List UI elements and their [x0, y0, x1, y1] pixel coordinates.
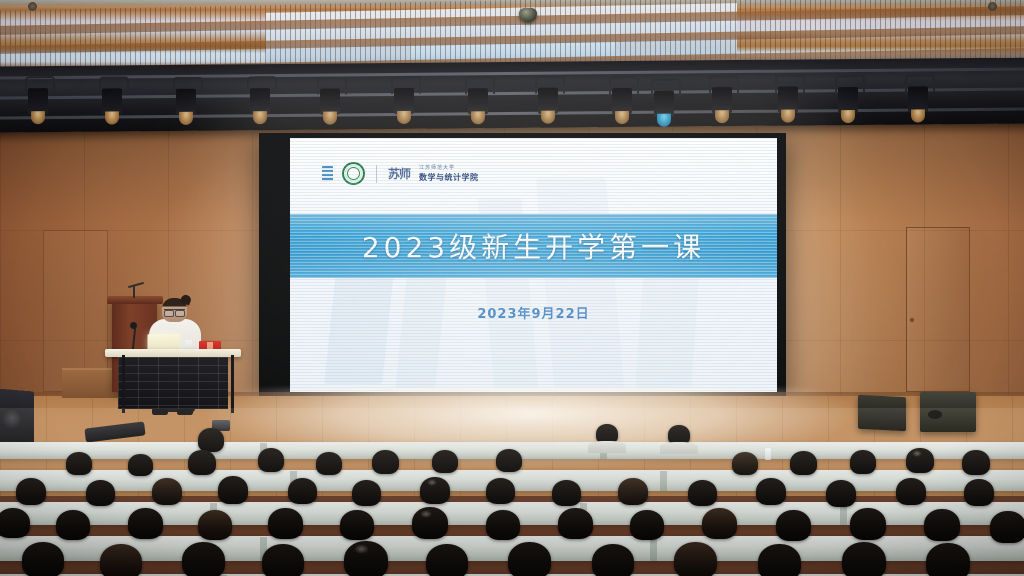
slide-date: 2023年9月22日	[290, 303, 777, 322]
audience-head	[850, 450, 876, 474]
audience-head	[100, 544, 142, 576]
glasses-icon	[164, 309, 185, 315]
auditorium-photo: 苏师 江苏师范大学 数学与统计学院 2023级新生开学第一课 2023年9月22…	[0, 0, 1024, 576]
table-leg	[122, 355, 125, 413]
audience-head	[842, 542, 886, 576]
audience-head	[372, 450, 399, 474]
audience-head	[826, 480, 856, 507]
logo-university-name: 江苏师范大学	[419, 164, 479, 171]
stage-light-fixture	[320, 89, 340, 115]
lamp-yoke-icon	[247, 76, 277, 94]
audience-head	[288, 478, 317, 504]
audience-head	[188, 450, 216, 475]
lamp-yoke-icon	[651, 79, 681, 97]
audience-head	[268, 508, 303, 539]
audience-head	[552, 480, 581, 506]
audience-head	[906, 448, 934, 473]
audience-head	[618, 478, 648, 505]
audience-head	[340, 510, 374, 540]
lamp-yoke-icon	[99, 76, 129, 94]
audience-head	[702, 508, 737, 539]
audience-head	[128, 454, 153, 476]
stage-light-fixture	[394, 88, 414, 114]
audience-head	[152, 478, 182, 505]
audience-head	[182, 542, 225, 576]
audience-head	[758, 544, 801, 576]
stage-light-fixture	[250, 88, 270, 114]
lamp-yoke-icon	[173, 77, 203, 95]
door-handle-icon	[910, 318, 914, 322]
audience-head	[22, 542, 64, 576]
audience-head	[776, 510, 811, 541]
lamp-yoke-icon	[835, 75, 865, 93]
table-leg	[231, 355, 234, 413]
stage-light-fixture-blue	[654, 91, 674, 117]
audience-head	[352, 480, 381, 506]
audience-head	[674, 542, 717, 576]
lamp-yoke-icon	[775, 74, 805, 92]
lectern-microphone-stem	[133, 286, 135, 298]
audience-head	[962, 450, 990, 475]
audience-head	[990, 511, 1024, 543]
audience-head	[412, 507, 448, 539]
audience-area	[0, 408, 1024, 576]
logo-bars-icon	[322, 166, 333, 182]
sprinkler-head-icon	[28, 2, 37, 11]
stage-light-fixture	[712, 87, 732, 113]
audience-head	[258, 448, 284, 472]
audience-head	[486, 478, 515, 504]
audience-head	[630, 510, 664, 540]
slide-logo: 苏师 江苏师范大学 数学与统计学院	[322, 162, 479, 185]
audience-head	[924, 509, 960, 541]
sprinkler-head-icon	[988, 2, 997, 11]
lighting-truss	[0, 57, 1024, 132]
audience-head	[508, 542, 551, 576]
audience-head	[262, 544, 304, 576]
audience-head	[926, 543, 970, 576]
audience-shoulders	[660, 442, 698, 454]
stage-light-fixture	[28, 88, 48, 114]
audience-head	[486, 510, 520, 540]
audience-head	[218, 476, 248, 504]
stage-light-fixture	[908, 86, 928, 112]
audience-head	[420, 477, 450, 504]
audience-head	[344, 541, 388, 576]
presentation-screen[interactable]: 苏师 江苏师范大学 数学与统计学院 2023级新生开学第一课 2023年9月22…	[290, 138, 777, 392]
audience-head	[316, 452, 342, 475]
stage-light-fixture	[778, 87, 798, 113]
stage-door-right[interactable]	[906, 227, 970, 392]
stage-light-fixture	[468, 88, 488, 114]
stage-light-fixture	[102, 88, 122, 114]
truss-rail	[0, 67, 1024, 79]
audience-head	[0, 508, 30, 538]
lamp-yoke-icon	[535, 76, 565, 94]
stage-light-fixture	[176, 89, 196, 115]
presentation-table	[105, 349, 241, 357]
lamp-yoke-icon	[609, 76, 639, 94]
lamp-yoke-icon	[25, 76, 55, 94]
audience-head	[790, 451, 817, 475]
audience-head	[756, 478, 786, 505]
stage-light-fixture	[838, 87, 858, 113]
audience-head	[66, 452, 92, 475]
logo-divider	[376, 165, 377, 183]
audience-head	[432, 450, 458, 473]
stage-light-fixture	[612, 88, 632, 114]
desk-microphone-icon	[130, 322, 137, 329]
lamp-yoke-icon	[709, 75, 739, 93]
lamp-yoke-icon	[317, 76, 347, 94]
audience-head	[732, 452, 758, 475]
logo-text-block: 江苏师范大学 数学与统计学院	[419, 164, 479, 183]
lamp-yoke-icon	[391, 76, 421, 94]
truss-rail	[0, 107, 1024, 119]
audience-head	[86, 480, 115, 506]
logo-school-name: 数学与统计学院	[419, 172, 479, 183]
truss-rail	[0, 87, 1024, 99]
audience-head	[558, 508, 593, 539]
lamp-yoke-icon	[905, 74, 935, 92]
audience-head	[496, 449, 522, 472]
audience-head	[128, 508, 163, 539]
audience-head	[16, 478, 46, 505]
stage-light-fixture	[538, 88, 558, 114]
audience-head	[426, 544, 468, 576]
audience-head	[850, 508, 886, 540]
audience-head	[198, 510, 232, 540]
audience-head	[198, 428, 224, 452]
audience-head	[964, 479, 994, 506]
lamp-yoke-icon	[465, 76, 495, 94]
audience-head	[688, 480, 717, 506]
audience-head	[592, 544, 634, 576]
table-skirt-panel	[118, 357, 228, 409]
led-screen-bezel: 苏师 江苏师范大学 数学与统计学院 2023级新生开学第一课 2023年9月22…	[259, 133, 786, 396]
logo-calligraphy: 苏师	[388, 168, 410, 180]
audience-head	[56, 510, 90, 540]
water-bottle	[765, 448, 771, 460]
slide-title: 2023级新生开学第一课	[290, 214, 777, 278]
audience-head	[896, 478, 926, 505]
university-seal-icon	[342, 162, 365, 185]
audience-shoulders	[588, 441, 626, 453]
